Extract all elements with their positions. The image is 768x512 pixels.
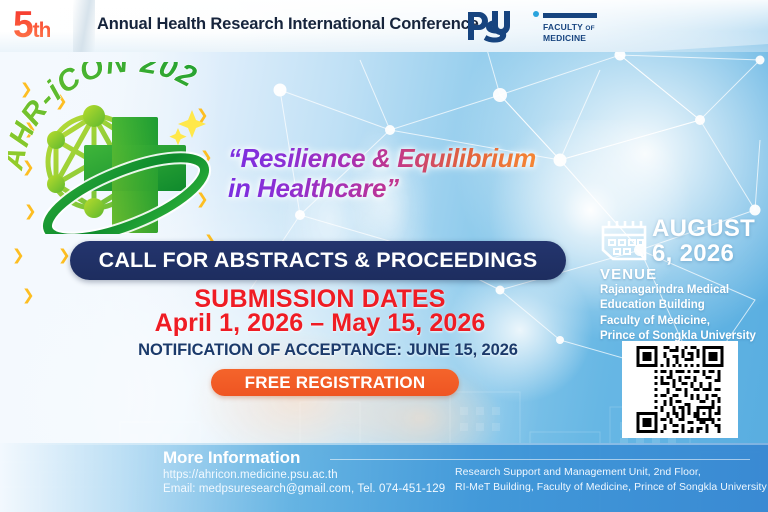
call-for-abstracts-label: CALL FOR ABSTRACTS & PROCEEDINGS: [99, 248, 538, 273]
medicine-word: MEDICINE: [543, 33, 586, 43]
header-fold-shadow: [73, 0, 95, 52]
venue-heading: VENUE: [600, 266, 657, 283]
qr-code-graphic: [627, 346, 733, 433]
submission-dates-value: April 1, 2026 – May 15, 2026: [0, 309, 640, 338]
more-information-heading: More Information: [163, 448, 300, 468]
conference-website[interactable]: https://ahricon.medicine.psu.ac.th: [163, 469, 338, 481]
psu-faculty-label: FACULTY OF MEDICINE: [543, 22, 595, 43]
ahricon-logo-graphic: AHR-iCON 2026: [8, 62, 230, 234]
free-registration-label: FREE REGISTRATION: [245, 373, 426, 393]
event-date: AUGUST 6, 2026: [652, 216, 755, 266]
chevron-icon: ❯: [58, 248, 71, 263]
venue-line-1: Rajanagarindra Medical: [600, 284, 729, 296]
venue-line-2: Education Building: [600, 299, 705, 311]
event-month: AUGUST: [652, 215, 755, 242]
chevron-icon: ❯: [12, 248, 25, 263]
venue-line-3: Faculty of Medicine,: [600, 315, 710, 327]
of-word: OF: [585, 25, 594, 32]
calendar-icon: [600, 218, 648, 262]
psu-logo-dot: [533, 11, 539, 17]
conference-theme: “Resilience & Equilibrium in Healthcare”: [228, 144, 628, 203]
edition-suffix: th: [33, 19, 51, 42]
page-title: Annual Health Research International Con…: [97, 15, 479, 34]
call-for-abstracts-banner[interactable]: CALL FOR ABSTRACTS & PROCEEDINGS: [70, 241, 566, 280]
faculty-word: FACULTY: [543, 22, 583, 32]
venue-address: Rajanagarindra Medical Education Buildin…: [600, 283, 768, 344]
ahricon-logo: AHR-iCON 2026: [8, 62, 230, 234]
edition-number: 5: [13, 4, 33, 45]
psu-divider-bar: [543, 13, 597, 18]
event-day-year: 6, 2026: [652, 240, 734, 267]
footer-divider: [330, 459, 750, 460]
footer-top-rule: [0, 443, 768, 445]
conference-poster: 5th Annual Health Research International…: [0, 0, 768, 512]
qr-code[interactable]: [622, 341, 738, 438]
contact-info[interactable]: Email: medpsuresearch@gmail.com, Tel. 07…: [163, 483, 445, 495]
notification-of-acceptance: NOTIFICATION OF ACCEPTANCE: JUNE 15, 202…: [0, 341, 656, 360]
psu-logo-icon: [466, 8, 528, 44]
theme-line-2: in Healthcare”: [228, 173, 399, 203]
edition-badge: 5th: [13, 6, 50, 43]
office-address-line-1: Research Support and Management Unit, 2n…: [455, 466, 701, 478]
theme-line-1: “Resilience & Equilibrium: [228, 143, 536, 173]
free-registration-badge[interactable]: FREE REGISTRATION: [211, 369, 459, 396]
office-address-line-2: RI-MeT Building, Faculty of Medicine, Pr…: [455, 481, 767, 493]
